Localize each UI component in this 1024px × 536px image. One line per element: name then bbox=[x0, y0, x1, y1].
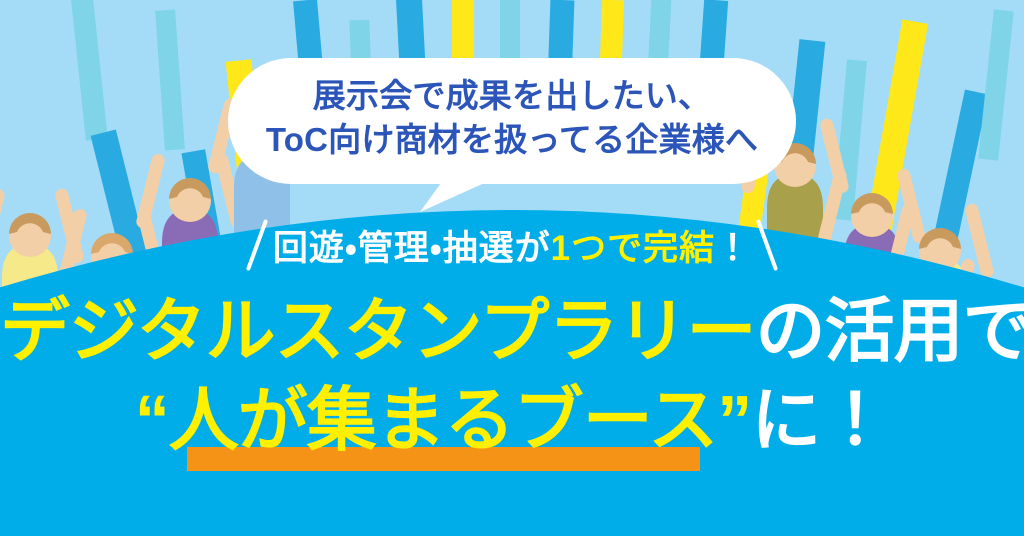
subtitle-accent: 1つで完結 bbox=[551, 229, 715, 268]
headline-2-quote-close: ” bbox=[717, 381, 751, 459]
headline-1-accent: デジタルスタンプラリー bbox=[0, 292, 756, 370]
headline-line-2: “人が集まるブース”に！ bbox=[0, 385, 1024, 455]
banner-content: 展示会で成果を出したい、 ToC向け商材を扱ってる企業様へ 回遊・管理・抽選が1… bbox=[0, 0, 1024, 536]
headline-2-accent: 人が集まるブース bbox=[169, 381, 718, 459]
right-slash-decoration bbox=[756, 219, 778, 271]
subtitle-suffix: ！ bbox=[715, 229, 751, 268]
left-slash-decoration bbox=[246, 219, 268, 271]
headline-1-plain: の活用で bbox=[756, 292, 1024, 370]
promo-banner: 展示会で成果を出したい、 ToC向け商材を扱ってる企業様へ 回遊・管理・抽選が1… bbox=[0, 0, 1024, 536]
headline-line-1: デジタルスタンプラリーの活用で bbox=[0, 296, 1024, 366]
subtitle-text: 回遊・管理・抽選が1つで完結！ bbox=[273, 220, 751, 271]
speech-bubble-text: 展示会で成果を出したい、 ToC向け商材を扱ってる企業様へ bbox=[0, 74, 1024, 162]
headline-2-plain: に！ bbox=[751, 381, 889, 459]
subtitle-prefix: 回遊・管理・抽選が bbox=[273, 229, 551, 268]
subtitle-row: 回遊・管理・抽選が1つで完結！ bbox=[0, 218, 1024, 272]
headline-2-quote-open: “ bbox=[135, 381, 169, 459]
